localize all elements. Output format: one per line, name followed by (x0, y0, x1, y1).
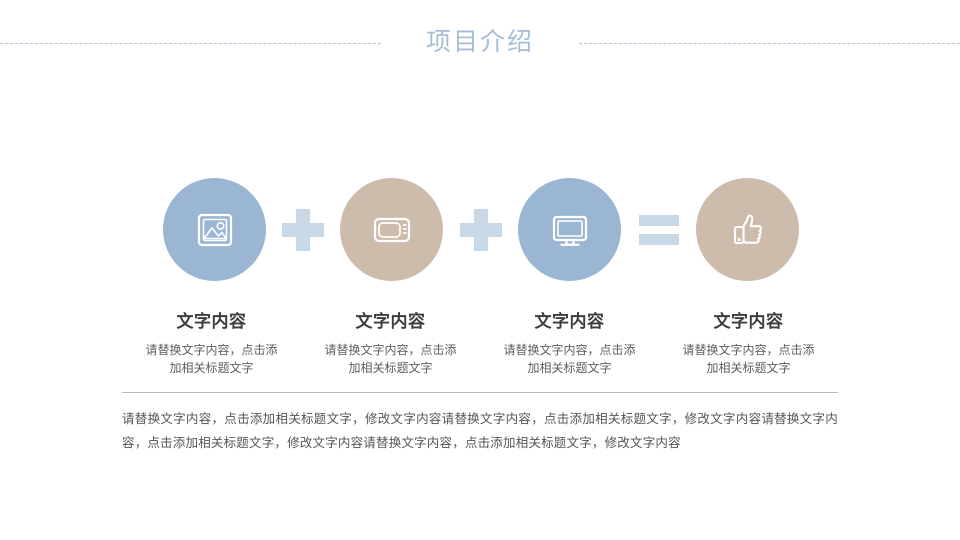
equals-sign-icon (639, 215, 679, 245)
text-column-4: 文字内容 请替换文字内容，点击添加相关标题文字 (659, 310, 838, 377)
plus-sign-icon (460, 209, 502, 251)
plus-sign-icon (282, 209, 324, 251)
operator-equals (621, 178, 696, 281)
column-description: 请替换文字内容，点击添加相关标题文字 (126, 341, 297, 377)
column-description: 请替换文字内容，点击添加相关标题文字 (663, 341, 834, 377)
slide-header: 项目介绍 (0, 22, 960, 62)
text-column-1: 文字内容 请替换文字内容，点击添加相关标题文字 (122, 310, 301, 377)
diagram-node-1[interactable] (163, 178, 266, 281)
column-text-row: 文字内容 请替换文字内容，点击添加相关标题文字 文字内容 请替换文字内容，点击添… (122, 310, 838, 377)
diagram-node-2[interactable] (340, 178, 443, 281)
column-title: 文字内容 (126, 310, 297, 334)
operator-plus-1 (266, 178, 340, 281)
column-description: 请替换文字内容，点击添加相关标题文字 (484, 341, 655, 377)
text-column-2: 文字内容 请替换文字内容，点击添加相关标题文字 (301, 310, 480, 377)
header-dashed-rule-right (579, 43, 960, 44)
desktop-monitor-icon (546, 206, 594, 254)
page-title: 项目介绍 (381, 25, 579, 59)
column-title: 文字内容 (305, 310, 476, 334)
footer-paragraph: 请替换文字内容，点击添加相关标题文字，修改文字内容请替换文字内容，点击添加相关标… (122, 407, 838, 455)
diagram-node-3[interactable] (518, 178, 621, 281)
column-title: 文字内容 (484, 310, 655, 334)
thumbs-up-icon (724, 206, 772, 254)
column-title: 文字内容 (663, 310, 834, 334)
diagram-node-4[interactable] (696, 178, 799, 281)
horizontal-divider (122, 392, 838, 393)
retro-tv-icon (368, 206, 416, 254)
equation-diagram (163, 178, 803, 282)
operator-plus-2 (444, 178, 518, 281)
image-photo-icon (191, 206, 239, 254)
column-description: 请替换文字内容，点击添加相关标题文字 (305, 341, 476, 377)
header-dashed-rule-left (0, 43, 381, 44)
text-column-3: 文字内容 请替换文字内容，点击添加相关标题文字 (480, 310, 659, 377)
slide-canvas: 项目介绍 (0, 0, 960, 540)
